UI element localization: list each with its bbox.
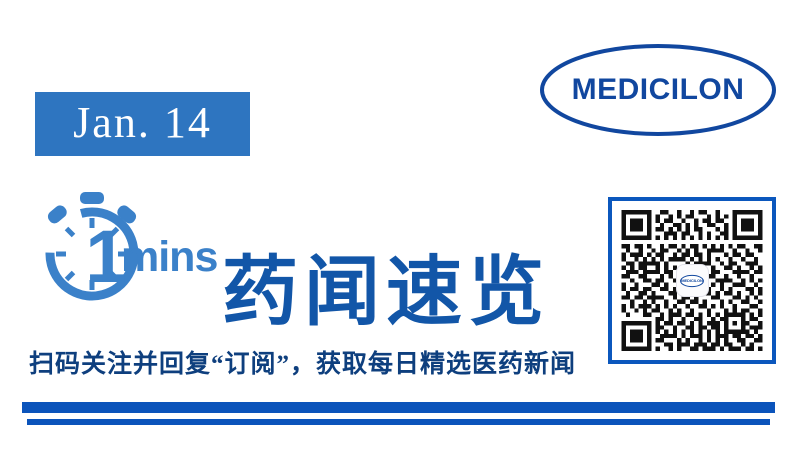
tagline: 扫码关注并回复“订阅”，获取每日精选医药新闻 xyxy=(29,351,576,379)
qr-code-block[interactable]: MEDICILON xyxy=(608,197,776,364)
qr-center-logo: MEDICILON xyxy=(677,265,708,296)
date-badge-label: Jan. 14 xyxy=(73,101,212,145)
date-badge: Jan. 14 xyxy=(35,92,250,156)
medicilon-logo-text: MEDICILON xyxy=(538,42,778,138)
mins-label: mins xyxy=(121,236,217,279)
footer-rule-thin xyxy=(27,419,770,425)
promo-banner: Jan. 14 MEDICILON xyxy=(0,0,800,468)
footer-rule-thick xyxy=(22,402,775,413)
qr-code-image[interactable]: MEDICILON xyxy=(621,210,763,351)
page-title: 药闻速览 xyxy=(222,255,550,331)
qr-center-logo-text: MEDICILON xyxy=(681,278,703,283)
medicilon-logo: MEDICILON xyxy=(538,42,778,138)
